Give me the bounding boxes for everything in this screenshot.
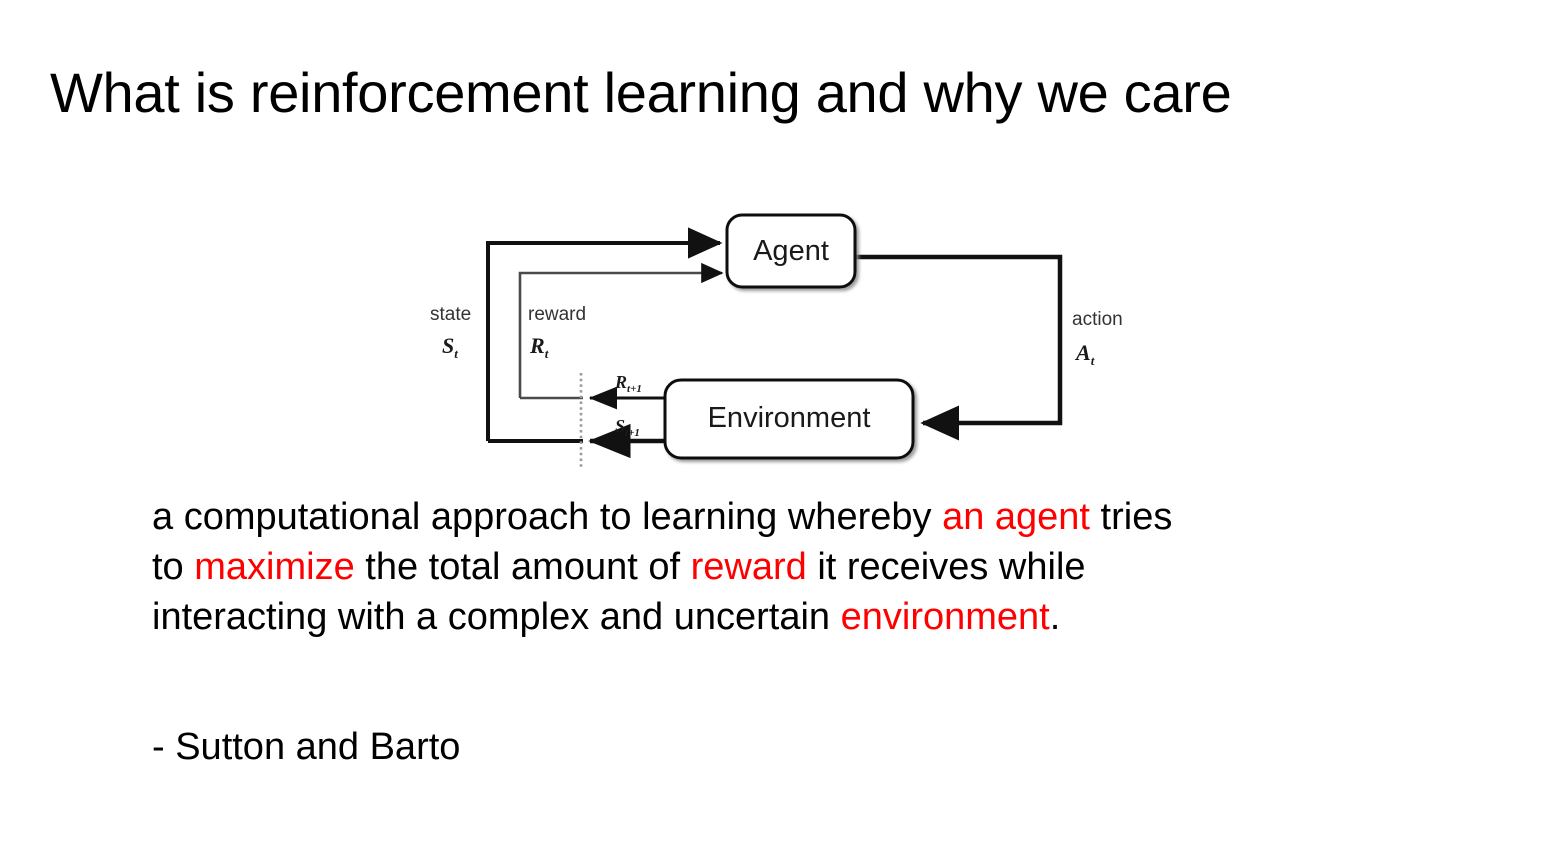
- quote-line-2-part-a: to: [152, 546, 194, 588]
- node-environment-label: Environment: [708, 402, 871, 434]
- edge-next-reward-symbol: Rt+1: [614, 372, 642, 395]
- page-title: What is reinforcement learning and why w…: [50, 62, 1510, 124]
- edge-state-label: state: [430, 304, 471, 325]
- quote-line-2-part-b: the total amount of: [355, 546, 691, 588]
- edge-action-label: action: [1072, 309, 1123, 330]
- quote-line-3-part-b: .: [1050, 596, 1061, 638]
- edge-next-state-symbol: St+1: [615, 416, 640, 439]
- quote-line-1: a computational approach to learning whe…: [152, 492, 1532, 542]
- quote-line-3-part-a: interacting with a complex and uncertain: [152, 596, 841, 638]
- quote-highlight-maximize: maximize: [194, 546, 354, 588]
- quote-line-3: interacting with a complex and uncertain…: [152, 592, 1532, 642]
- quote-line-1-part-a: a computational approach to learning whe…: [152, 496, 942, 538]
- quote-text: a computational approach to learning whe…: [152, 492, 1532, 642]
- quote-line-2: to maximize the total amount of reward i…: [152, 542, 1532, 592]
- edge-action-symbol: At: [1074, 340, 1095, 368]
- node-agent-label: Agent: [753, 235, 829, 267]
- edge-reward-symbol: Rt: [529, 333, 549, 361]
- node-agent: Agent: [727, 215, 855, 287]
- quote-highlight-environment: environment: [841, 596, 1050, 638]
- quote-attribution: - Sutton and Barto: [152, 722, 460, 772]
- quote-highlight-an-agent: an agent: [942, 496, 1090, 538]
- quote-line-2-part-c: it receives while: [807, 546, 1086, 588]
- node-environment: Environment: [665, 380, 913, 458]
- quote-line-1-part-b: tries: [1090, 496, 1172, 538]
- quote-highlight-reward: reward: [691, 546, 807, 588]
- edge-state-symbol: St: [442, 333, 458, 361]
- edge-reward-label: reward: [528, 304, 586, 325]
- rl-loop-diagram: Agent Environment state St reward Rt act…: [400, 195, 1190, 485]
